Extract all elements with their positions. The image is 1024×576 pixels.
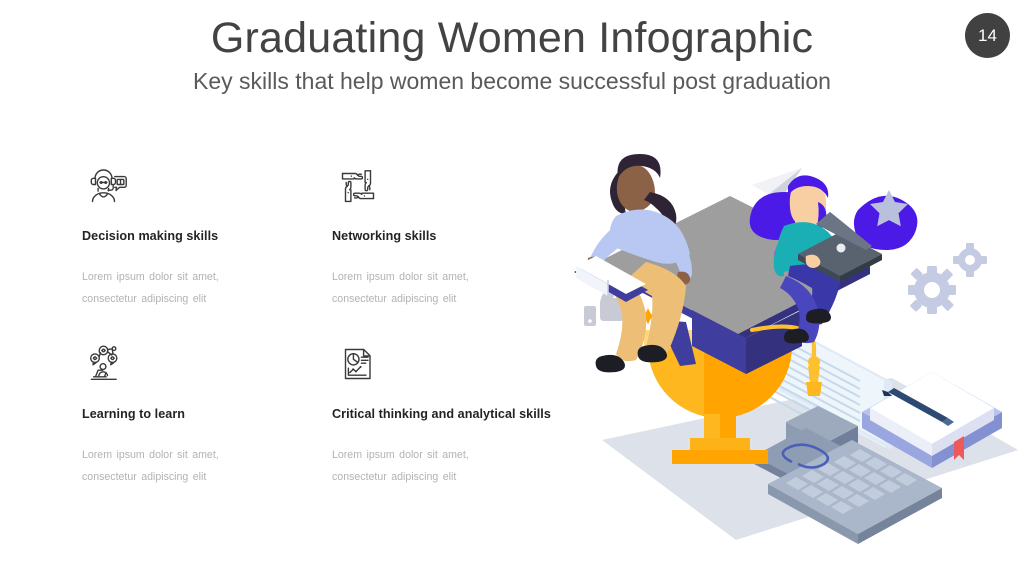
feature-description: Lorem ipsum dolor sit amet, consectetur … xyxy=(82,445,272,488)
features-row-2: Learning to learn Lorem ipsum dolor sit … xyxy=(82,338,582,516)
slide-canvas: Graduating Women Infographic Key skills … xyxy=(0,0,1024,576)
analytics-report-icon xyxy=(332,338,384,390)
feature-learning-to-learn[interactable]: Learning to learn Lorem ipsum dolor sit … xyxy=(82,338,332,488)
features-row-1: Decision making skills Lorem ipsum dolor… xyxy=(82,160,582,338)
feature-description: Lorem ipsum dolor sit amet, consectetur … xyxy=(82,267,272,310)
feature-description: Lorem ipsum dolor sit amet, consectetur … xyxy=(332,267,522,310)
feature-title: Decision making skills xyxy=(82,229,332,243)
graduation-desk-illustration xyxy=(540,150,1024,550)
gears-icon xyxy=(908,243,987,314)
feature-description: Lorem ipsum dolor sit amet, consectetur … xyxy=(332,445,522,488)
slide-header: Graduating Women Infographic Key skills … xyxy=(0,0,1024,96)
teamwork-hands-icon xyxy=(332,160,384,212)
page-number-badge: 14 xyxy=(965,13,1010,58)
feature-title: Learning to learn xyxy=(82,407,332,421)
feature-decision-making[interactable]: Decision making skills Lorem ipsum dolor… xyxy=(82,160,332,310)
page-subtitle: Key skills that help women become succes… xyxy=(0,62,1024,96)
support-agent-icon xyxy=(82,160,134,212)
page-number-label: 14 xyxy=(978,26,997,46)
features-grid: Decision making skills Lorem ipsum dolor… xyxy=(82,160,582,517)
page-title: Graduating Women Infographic xyxy=(0,0,1024,62)
person-laptop-network-icon xyxy=(82,338,134,390)
